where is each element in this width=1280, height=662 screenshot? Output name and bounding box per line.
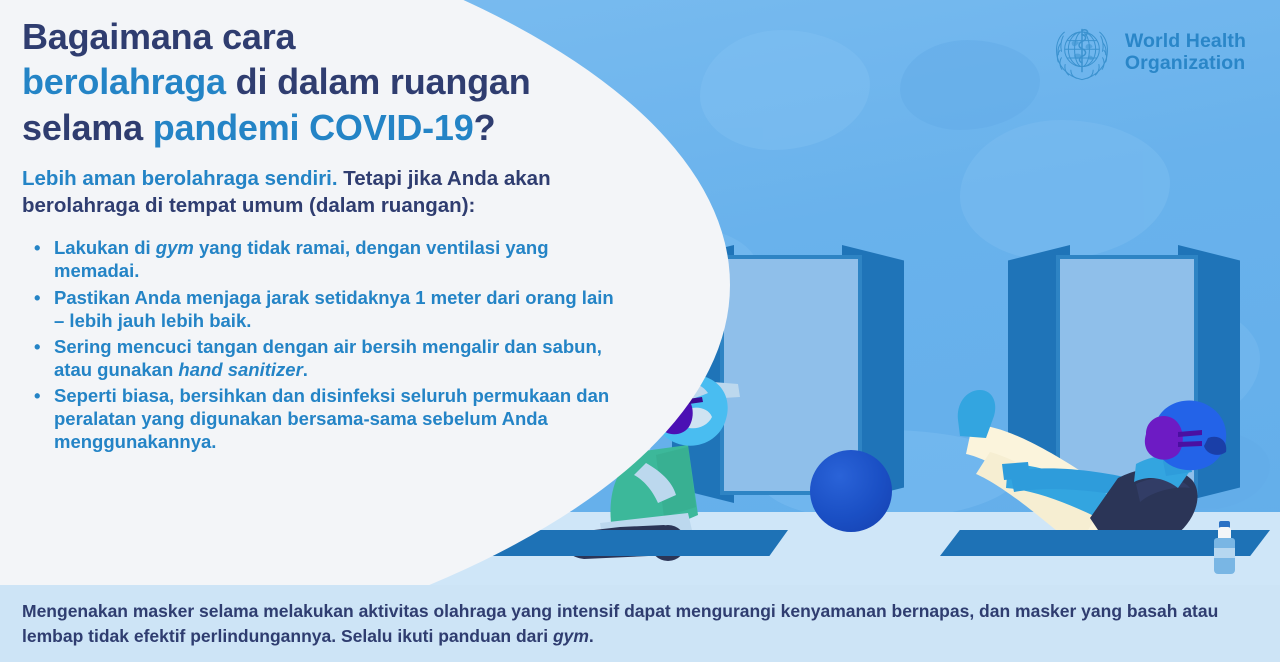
list-item: • Sering mencuci tangan dengan air bersi…: [22, 335, 622, 381]
bullet-icon: •: [34, 335, 40, 358]
footer-part-3: .: [589, 626, 594, 646]
who-logo: World Health Organization: [1051, 22, 1246, 84]
footer-text: Mengenakan masker selama melakukan aktiv…: [22, 599, 1252, 650]
who-wordmark: World Health Organization: [1125, 31, 1246, 75]
headline-highlight-1: berolahraga: [22, 61, 226, 102]
headline-highlight-2: pandemi COVID-19: [153, 107, 474, 148]
footer-banner: Mengenakan masker selama melakukan aktiv…: [0, 585, 1280, 662]
footer-part-1: Mengenakan masker selama melakukan aktiv…: [22, 601, 557, 621]
list-item: • Seperti biasa, bersihkan dan disinfeks…: [22, 384, 622, 453]
list-item: • Pastikan Anda menjaga jarak setidaknya…: [22, 286, 622, 332]
headline-line-3-tail: ?: [474, 107, 496, 148]
who-name-line-2: Organization: [1125, 53, 1246, 75]
tip-text-post: .: [303, 359, 308, 380]
bullet-icon: •: [34, 384, 40, 407]
tip-text-pre: Lakukan di: [54, 237, 156, 258]
text-column: Bagaimana cara berolahraga di dalam ruan…: [22, 14, 682, 456]
subheading-highlight: Lebih aman berolahraga sendiri.: [22, 167, 338, 190]
tip-text-pre: Sering mencuci tangan dengan air bersih …: [54, 336, 602, 380]
who-name-line-1: World Health: [1125, 31, 1246, 53]
headline-line-1: Bagaimana cara: [22, 16, 295, 57]
tip-text-pre: Pastikan Anda menjaga jarak setidaknya 1…: [54, 287, 614, 331]
headline-line-2: di dalam ruangan: [226, 61, 531, 102]
subheading: Lebih aman berolahraga sendiri. Tetapi j…: [22, 166, 647, 219]
bottle-label: [1214, 548, 1235, 558]
list-item: • Lakukan di gym yang tidak ramai, denga…: [22, 236, 622, 282]
exercise-ball: [810, 450, 892, 532]
who-emblem-icon: [1051, 22, 1113, 84]
infographic-poster: Bagaimana cara berolahraga di dalam ruan…: [0, 0, 1280, 662]
tip-text-italic: gym: [156, 237, 194, 258]
footer-italic-term: gym: [553, 626, 589, 646]
tip-text-pre: Seperti biasa, bersihkan dan disinfeksi …: [54, 385, 609, 452]
footer-bold-term: intensif: [557, 601, 619, 621]
bullet-icon: •: [34, 236, 40, 259]
bullet-icon: •: [34, 286, 40, 309]
tips-list: • Lakukan di gym yang tidak ramai, denga…: [22, 236, 682, 453]
headline-line-3: selama: [22, 107, 153, 148]
page-title: Bagaimana cara berolahraga di dalam ruan…: [22, 14, 682, 150]
tip-text-italic: hand sanitizer: [178, 359, 302, 380]
